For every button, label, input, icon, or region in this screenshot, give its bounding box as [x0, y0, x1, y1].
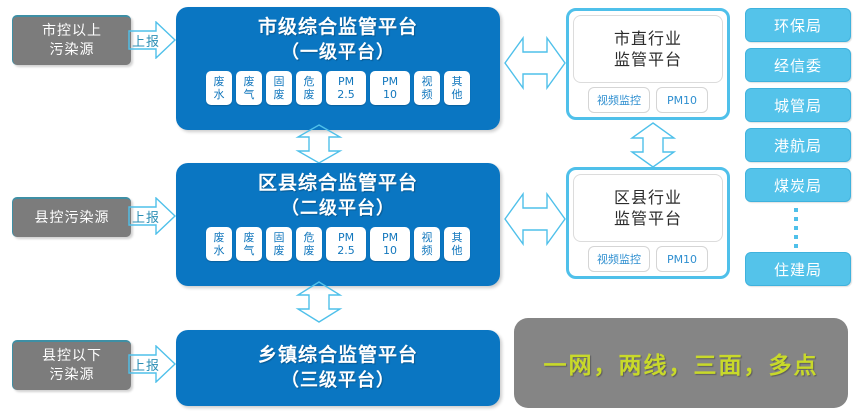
- connector-arrow-city-industry: [504, 26, 566, 100]
- platform-title-main: 乡镇综合监管平台: [258, 344, 418, 366]
- industry-platform-city[interactable]: 市直行业 监管平台 视频监控 PM10: [566, 8, 730, 120]
- department-jingxinwei[interactable]: 经信委: [745, 48, 851, 82]
- connector-arrow-industry-city-district: [622, 122, 684, 168]
- platform-town[interactable]: 乡镇综合监管平台 （三级平台）: [176, 330, 500, 406]
- platform-title-sub: （三级平台）: [258, 368, 418, 393]
- report-arrow-label: 上报: [128, 207, 160, 226]
- platform-title-sub: （一级平台）: [258, 40, 418, 65]
- platform-title-main: 区县综合监管平台: [258, 172, 418, 194]
- module-pm10[interactable]: PM10: [656, 246, 708, 272]
- source-box-below-county: 县控以下 污染源: [12, 340, 131, 390]
- platform-title-sub: （二级平台）: [258, 196, 418, 221]
- report-arrow-county: 上报: [128, 197, 176, 235]
- department-meitanju[interactable]: 煤炭局: [745, 168, 851, 202]
- source-box-city: 市控以上 污染源: [12, 15, 131, 65]
- platform-title-main: 市级综合监管平台: [258, 16, 418, 38]
- industry-platform-district[interactable]: 区县行业 监管平台 视频监控 PM10: [566, 167, 730, 279]
- industry-module-row: 视频监控 PM10: [573, 246, 723, 272]
- source-box-county: 县控污染源: [12, 197, 131, 237]
- source-label-line2: 污染源: [42, 366, 102, 385]
- platform-title: 市级综合监管平台 （一级平台）: [258, 15, 418, 65]
- chip-shipin[interactable]: 视频: [414, 71, 440, 105]
- chip-feiqi[interactable]: 废气: [236, 227, 262, 261]
- diagram-canvas: 市控以上 污染源 上报 县控污染源 上报 县控以下 污染源 上报: [0, 0, 858, 418]
- platform-title: 区县综合监管平台 （二级平台）: [258, 171, 418, 221]
- department-ellipsis-icon: [793, 208, 799, 248]
- source-label-line2: 污染源: [42, 41, 102, 60]
- source-label-line1: 市控以上: [42, 22, 102, 41]
- platform-title: 乡镇综合监管平台 （三级平台）: [258, 343, 418, 393]
- source-label-line1: 县控以下: [42, 347, 102, 366]
- industry-title-line1: 市直行业: [614, 28, 682, 49]
- industry-platform-title: 市直行业 监管平台: [573, 15, 723, 83]
- report-arrow-label: 上报: [128, 31, 160, 50]
- industry-platform-title: 区县行业 监管平台: [573, 174, 723, 242]
- industry-module-row: 视频监控 PM10: [573, 87, 723, 113]
- chip-feishui[interactable]: 废水: [206, 71, 232, 105]
- chip-pm10[interactable]: PM10: [370, 71, 410, 105]
- report-arrow-below-county: 上报: [128, 345, 176, 383]
- module-pm10[interactable]: PM10: [656, 87, 708, 113]
- chip-weifei[interactable]: 危废: [296, 227, 322, 261]
- connector-arrow-district-industry: [504, 182, 566, 256]
- slogan-banner: 一网，两线，三面，多点: [514, 318, 848, 408]
- chip-pm10[interactable]: PM10: [370, 227, 410, 261]
- chip-gufei[interactable]: 固废: [266, 227, 292, 261]
- platform-city[interactable]: 市级综合监管平台 （一级平台） 废水 废气 固废 危废 PM2.5 PM10 视…: [176, 7, 500, 130]
- module-video-monitor[interactable]: 视频监控: [588, 246, 650, 272]
- chip-feishui[interactable]: 废水: [206, 227, 232, 261]
- platform-district[interactable]: 区县综合监管平台 （二级平台） 废水 废气 固废 危废 PM2.5 PM10 视…: [176, 163, 500, 286]
- module-video-monitor[interactable]: 视频监控: [588, 87, 650, 113]
- source-label-line1: 县控污染源: [35, 209, 110, 228]
- department-chengguanju[interactable]: 城管局: [745, 88, 851, 122]
- industry-title-line2: 监管平台: [614, 49, 682, 70]
- industry-title-line1: 区县行业: [614, 187, 682, 208]
- platform-chip-row: 废水 废气 固废 危废 PM2.5 PM10 视频 其他: [206, 71, 470, 105]
- connector-arrow-tier1-tier2: [288, 124, 350, 164]
- chip-qita[interactable]: 其他: [444, 227, 470, 261]
- department-zhujianju[interactable]: 住建局: [745, 252, 851, 286]
- chip-pm25[interactable]: PM2.5: [326, 71, 366, 105]
- connector-arrow-tier2-tier3: [288, 281, 350, 323]
- chip-gufei[interactable]: 固废: [266, 71, 292, 105]
- report-arrow-city: 上报: [128, 21, 176, 59]
- chip-pm25[interactable]: PM2.5: [326, 227, 366, 261]
- chip-feiqi[interactable]: 废气: [236, 71, 262, 105]
- chip-qita[interactable]: 其他: [444, 71, 470, 105]
- department-huanbaoju[interactable]: 环保局: [745, 8, 851, 42]
- platform-chip-row: 废水 废气 固废 危废 PM2.5 PM10 视频 其他: [206, 227, 470, 261]
- report-arrow-label: 上报: [128, 355, 160, 374]
- chip-shipin[interactable]: 视频: [414, 227, 440, 261]
- chip-weifei[interactable]: 危废: [296, 71, 322, 105]
- industry-title-line2: 监管平台: [614, 208, 682, 229]
- department-ganghangju[interactable]: 港航局: [745, 128, 851, 162]
